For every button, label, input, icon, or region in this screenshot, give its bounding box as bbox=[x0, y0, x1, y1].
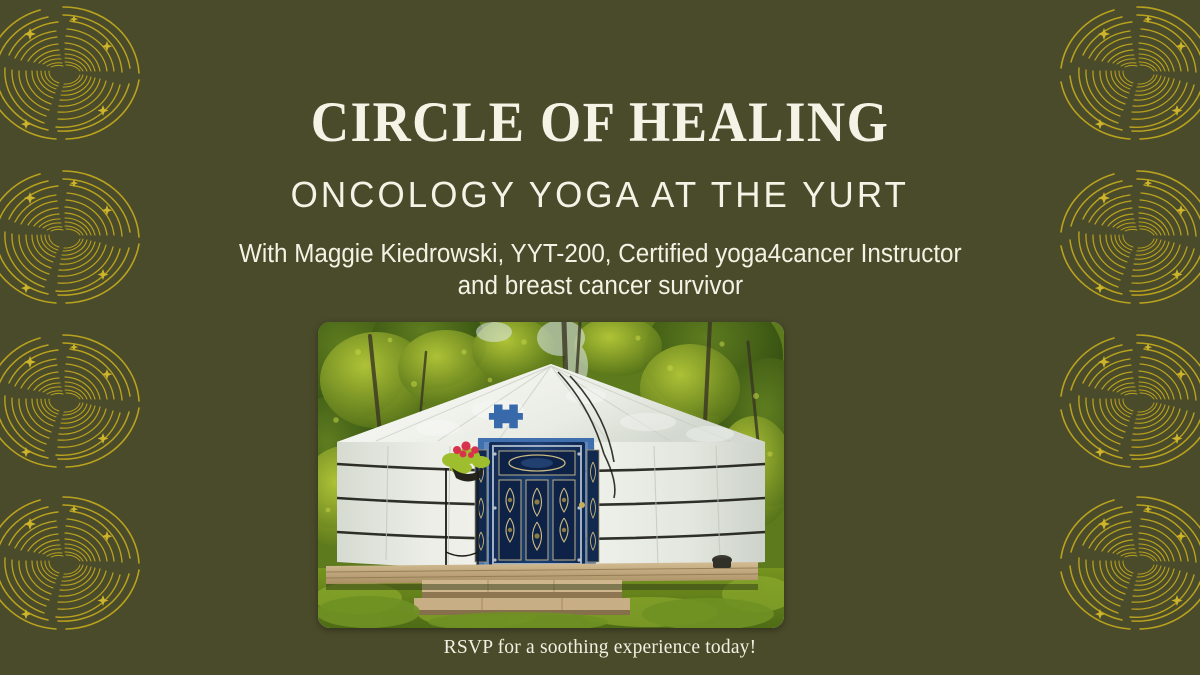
rsvp-footnote: RSVP for a soothing experience today! bbox=[0, 637, 1200, 659]
instructor-byline: With Maggie Kiedrowski, YYT-200, Certifi… bbox=[239, 239, 962, 302]
page-title: CIRCLE OF HEALING bbox=[311, 94, 889, 151]
byline-line-2: and breast cancer survivor bbox=[239, 271, 962, 303]
poster-canvas: CIRCLE OF HEALING ONCOLOGY YOGA AT THE Y… bbox=[0, 0, 1200, 675]
page-subtitle: ONCOLOGY YOGA AT THE YURT bbox=[291, 177, 909, 213]
byline-line-1: With Maggie Kiedrowski, YYT-200, Certifi… bbox=[239, 239, 962, 271]
yurt-photo bbox=[318, 322, 784, 628]
